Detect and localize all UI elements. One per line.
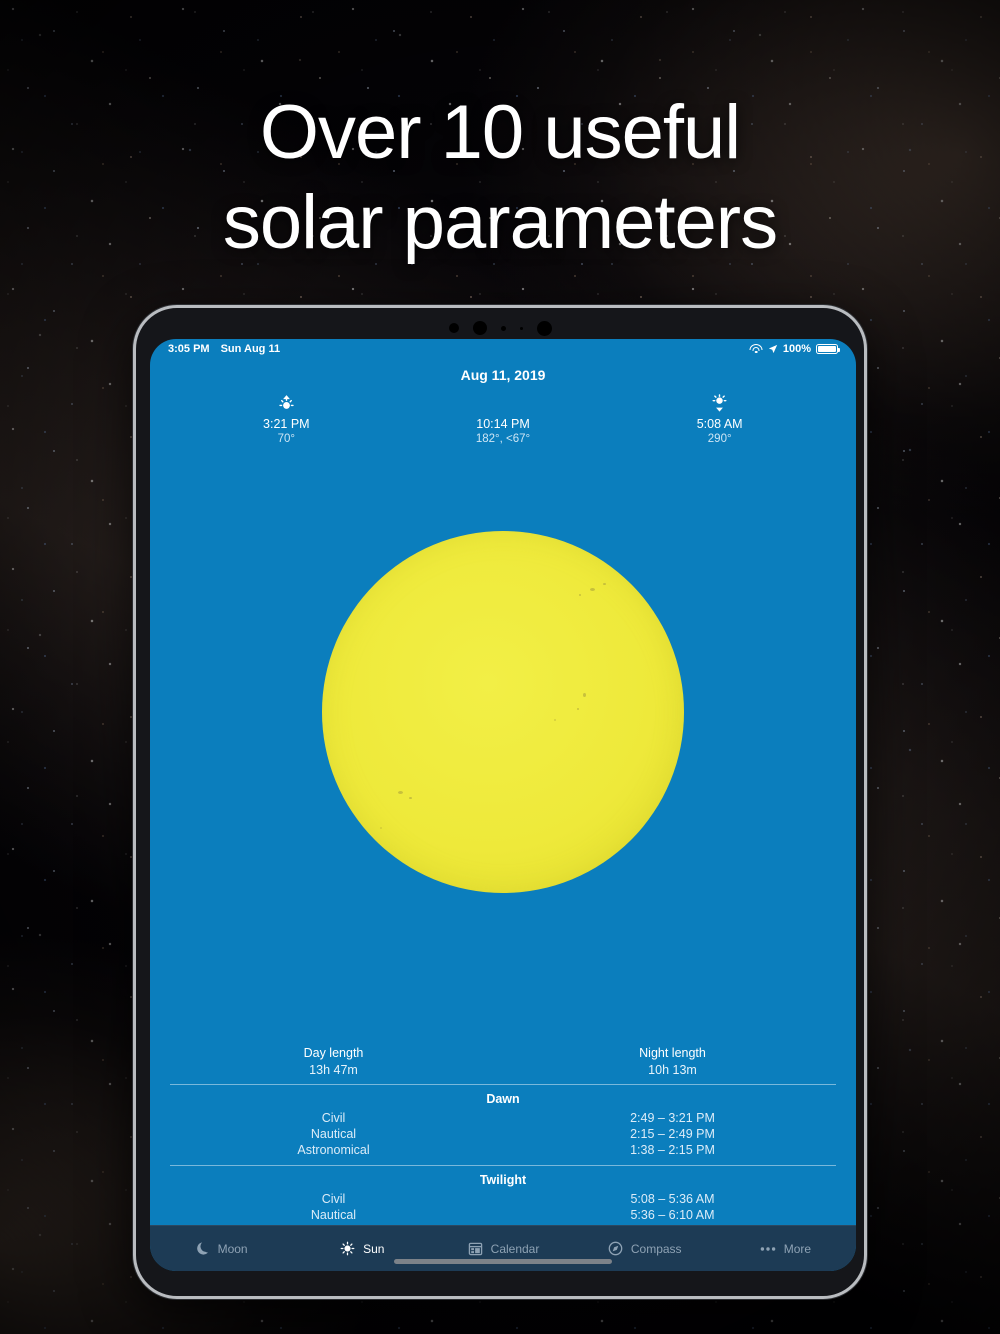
tab-compass[interactable]: Compass xyxy=(574,1240,715,1257)
solar-noon-spacer xyxy=(395,393,612,413)
sunrise-column[interactable]: 3:21 PM 70° xyxy=(178,393,395,445)
dawn-civil-label: Civil xyxy=(164,1110,503,1126)
ios-status-bar: 3:05 PM Sun Aug 11 100% xyxy=(150,339,856,359)
headline-line-2: solar parameters xyxy=(0,178,1000,268)
solar-noon-time: 10:14 PM xyxy=(395,417,612,431)
sunset-time: 5:08 AM xyxy=(611,417,828,431)
table-row: Civil 5:08 – 5:36 AM xyxy=(164,1191,842,1207)
twilight-nautical-label: Nautical xyxy=(164,1207,503,1223)
divider xyxy=(170,1084,836,1085)
sunspot xyxy=(554,719,556,721)
front-camera-icon xyxy=(473,321,487,335)
dawn-nautical-range: 2:15 – 2:49 PM xyxy=(503,1126,842,1142)
status-time: 3:05 PM xyxy=(168,343,210,355)
twilight-section-title: Twilight xyxy=(164,1173,842,1187)
table-row: Civil 2:49 – 3:21 PM xyxy=(164,1110,842,1126)
sunset-column[interactable]: 5:08 AM 290° xyxy=(611,393,828,445)
front-sensor-array xyxy=(136,320,864,336)
twilight-nautical-range: 5:36 – 6:10 AM xyxy=(503,1207,842,1223)
night-length-value: 10h 13m xyxy=(503,1063,842,1077)
sunrise-azimuth: 70° xyxy=(178,433,395,445)
table-row: Nautical 2:15 – 2:49 PM xyxy=(164,1126,842,1142)
ambient-sensor-icon xyxy=(520,327,523,330)
twilight-civil-label: Civil xyxy=(164,1191,503,1207)
divider xyxy=(170,1165,836,1166)
sunspot xyxy=(590,588,595,591)
dawn-astronomical-range: 1:38 – 2:15 PM xyxy=(503,1142,842,1158)
calendar-icon xyxy=(467,1240,484,1257)
sun-photosphere-image[interactable] xyxy=(322,531,684,893)
sun-disc-stage xyxy=(150,445,856,1046)
night-length-label: Night length xyxy=(503,1046,842,1060)
dot-projector-icon xyxy=(537,321,552,336)
tab-calendar-label: Calendar xyxy=(491,1242,540,1256)
sunspot xyxy=(409,797,412,799)
day-length-cell: Day length 13h 47m xyxy=(164,1046,503,1077)
sunspot xyxy=(579,594,581,596)
tab-moon-label: Moon xyxy=(218,1242,248,1256)
ellipsis-icon xyxy=(760,1240,777,1257)
night-length-cell: Night length 10h 13m xyxy=(503,1046,842,1077)
solar-noon-column[interactable]: 10:14 PM 182°, <67° xyxy=(395,393,612,445)
tab-sun[interactable]: Sun xyxy=(291,1240,432,1257)
battery-full-icon xyxy=(816,344,838,354)
battery-percent-label: 100% xyxy=(783,343,811,355)
day-length-label: Day length xyxy=(164,1046,503,1060)
ipad-device-frame: 3:05 PM Sun Aug 11 100% Aug 11, 2019 xyxy=(133,305,867,1299)
sunspot xyxy=(577,708,579,710)
tab-more[interactable]: More xyxy=(715,1240,856,1257)
status-date: Sun Aug 11 xyxy=(221,343,281,355)
tab-more-label: More xyxy=(784,1242,811,1256)
promo-headline: Over 10 useful solar parameters xyxy=(0,88,1000,267)
table-row: Nautical 5:36 – 6:10 AM xyxy=(164,1207,842,1223)
sunset-azimuth: 290° xyxy=(611,433,828,445)
sun-icon xyxy=(339,1240,356,1257)
dawn-section-title: Dawn xyxy=(164,1092,842,1106)
solar-data-table: Day length 13h 47m Night length 10h 13m … xyxy=(150,1046,856,1225)
solar-noon-azimuth: 182°, <67° xyxy=(395,433,612,445)
page-title[interactable]: Aug 11, 2019 xyxy=(150,367,856,383)
table-row: Astronomical 1:38 – 2:15 PM xyxy=(164,1142,842,1158)
tab-calendar[interactable]: Calendar xyxy=(432,1240,573,1257)
sunspot xyxy=(380,827,382,829)
sunset-icon xyxy=(611,393,828,413)
bottom-tab-bar: Moon Sun xyxy=(150,1225,856,1271)
home-indicator[interactable] xyxy=(394,1259,612,1264)
location-arrow-icon xyxy=(768,344,778,354)
sensor-dot-icon xyxy=(449,323,459,333)
twilight-civil-range: 5:08 – 5:36 AM xyxy=(503,1191,842,1207)
moon-icon xyxy=(194,1240,211,1257)
headline-line-1: Over 10 useful xyxy=(0,88,1000,178)
sunspot xyxy=(603,583,606,585)
sunrise-time: 3:21 PM xyxy=(178,417,395,431)
tab-compass-label: Compass xyxy=(631,1242,682,1256)
length-row: Day length 13h 47m Night length 10h 13m xyxy=(164,1046,842,1077)
wifi-icon xyxy=(750,344,763,354)
dawn-civil-range: 2:49 – 3:21 PM xyxy=(503,1110,842,1126)
sunspot xyxy=(583,693,586,697)
sunrise-icon xyxy=(178,393,395,413)
tab-moon[interactable]: Moon xyxy=(150,1240,291,1257)
sunspot xyxy=(398,791,403,794)
ir-emitter-icon xyxy=(501,326,506,331)
dawn-nautical-label: Nautical xyxy=(164,1126,503,1142)
sun-summary-row: 3:21 PM 70° 10:14 PM 182°, <67° xyxy=(150,393,856,445)
compass-icon xyxy=(607,1240,624,1257)
day-length-value: 13h 47m xyxy=(164,1063,503,1077)
tab-sun-label: Sun xyxy=(363,1242,384,1256)
dawn-astronomical-label: Astronomical xyxy=(164,1142,503,1158)
app-screen: 3:05 PM Sun Aug 11 100% Aug 11, 2019 xyxy=(150,339,856,1271)
